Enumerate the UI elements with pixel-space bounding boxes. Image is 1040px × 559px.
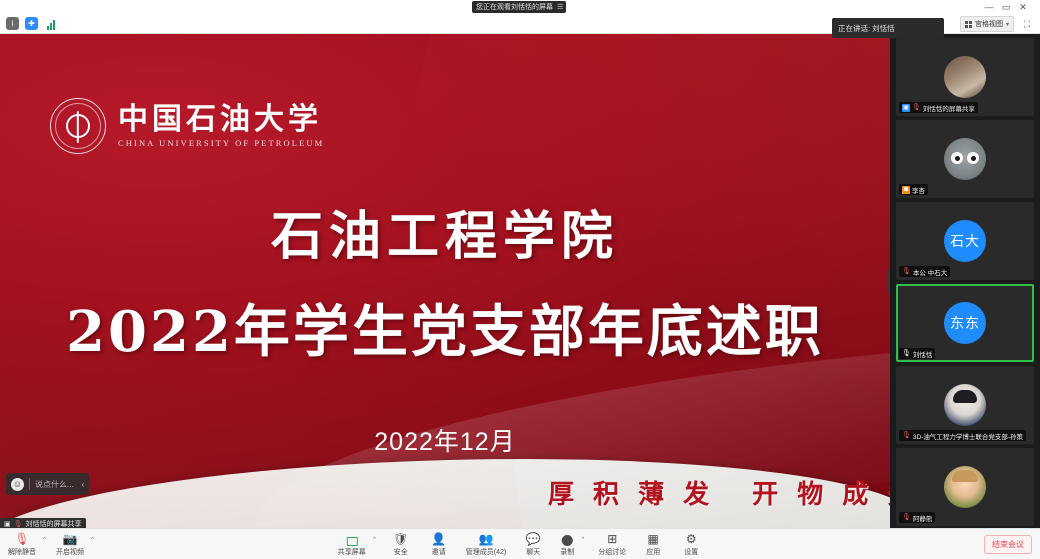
microphone-muted-icon: 🎙 (14, 531, 29, 546)
participant-label: ☗ 李杏 (899, 184, 928, 195)
logo-english-name: CHINA UNIVERSITY OF PETROLEUM (118, 138, 324, 148)
breakout-rooms-icon: ⊞ (607, 531, 617, 546)
host-icon: ☗ (902, 186, 910, 194)
fullscreen-icon[interactable]: ⛶ (1020, 17, 1034, 31)
divider (29, 478, 30, 490)
emoji-icon[interactable]: ☺ (11, 478, 24, 491)
mic-on-icon: 🎙 (902, 350, 911, 357)
meeting-status-icons: i ✚ (6, 17, 57, 30)
gear-icon: ⚙ (686, 531, 697, 546)
unmute-button-label: 解除静音 (8, 547, 36, 557)
end-meeting-button[interactable]: 结束会议 (984, 535, 1032, 554)
apps-button[interactable]: ▦ 应用 (642, 531, 664, 557)
chat-button[interactable]: 💬 聊天 (522, 531, 544, 557)
participant-name: 刘恬恬的屏幕共享 (923, 103, 975, 113)
mic-muted-icon: 🎙 (912, 104, 921, 111)
mic-muted-icon: 🎙 (902, 514, 911, 521)
avatar (944, 384, 986, 426)
control-bar-left-group: 🎙 解除静音 ^ 📷 开启视频 ^ (8, 531, 92, 557)
window-titlebar: 您正在观看刘恬恬的屏幕 ☰ — ▭ ✕ (0, 0, 1040, 14)
window-close-button[interactable]: ✕ (1016, 1, 1030, 13)
slide-heading-secondary: 2022年学生党支部年底述职 (0, 287, 890, 368)
slide-motto-right: 开 物 成 务 (752, 474, 890, 511)
control-bar-center-group: 共享屏幕 ^ 🛡 安全 👤 邀请 👥 管理成员(42) 💬 聊天 录制 (338, 531, 702, 557)
shield-icon[interactable]: ✚ (25, 17, 38, 30)
start-video-button[interactable]: 📷 开启视频 ^ (56, 531, 92, 557)
university-logo: 中国石油大学 CHINA UNIVERSITY OF PETROLEUM (50, 98, 324, 154)
chat-input-placeholder[interactable]: 说点什么... (35, 479, 74, 490)
view-mode-switch[interactable]: 宫格视图 ▾ (960, 16, 1014, 32)
collapse-chat-icon[interactable]: ‹ (79, 480, 85, 489)
participant-name: 李杏 (912, 185, 925, 195)
info-icon[interactable]: i (6, 17, 19, 30)
manage-participants-button-label: 管理成员(42) (466, 547, 506, 557)
floating-chat-composer[interactable]: ☺ 说点什么... ‹ (6, 473, 89, 495)
chevron-up-icon[interactable]: ^ (43, 537, 46, 543)
participant-name: 阿静熊 (913, 513, 933, 523)
participant-thumbnail-active-speaker[interactable]: 东东 🎙 刘恬恬 (896, 284, 1034, 362)
window-minimize-button[interactable]: — (982, 1, 996, 13)
active-speaker-toast: 正在讲话: 刘恬恬 (832, 18, 944, 38)
screen-share-attribution-tag: ▣ 🎙 刘恬恬的屏幕共享 (0, 518, 86, 528)
unmute-button[interactable]: 🎙 解除静音 ^ (8, 531, 44, 557)
participant-label: 🎙 刘恬恬 (899, 348, 935, 359)
university-seal-icon (50, 98, 106, 154)
slide-motto: 厚 积 薄 发 开 物 成 务 (548, 474, 890, 511)
participant-name: 本公 中石大 (913, 267, 947, 277)
participant-label: 🎙 3D-油气工程力学博士联合党支部-孙策 (899, 430, 1026, 441)
chevron-up-icon[interactable]: ^ (373, 537, 376, 543)
viewing-screen-banner-text: 您正在观看刘恬恬的屏幕 (476, 2, 553, 12)
chevron-up-icon[interactable]: ^ (91, 537, 94, 543)
shield-icon: 🛡 (393, 531, 408, 546)
chevron-up-icon[interactable]: ^ (581, 537, 584, 543)
participant-label: 🎙 阿静熊 (899, 512, 935, 523)
participant-name: 3D-油气工程力学博士联合党支部-孙策 (913, 431, 1023, 441)
chat-button-label: 聊天 (526, 547, 540, 557)
chat-bubble-icon: 💬 (526, 531, 541, 546)
participant-thumbnail[interactable]: 🎙 阿静熊 (896, 448, 1034, 526)
invite-person-icon: 👤 (431, 531, 446, 546)
security-button-label: 安全 (394, 547, 408, 557)
slide-date: 2022年12月 (0, 422, 890, 458)
avatar (944, 56, 986, 98)
settings-button-label: 设置 (684, 547, 698, 557)
participant-thumbnail[interactable]: ▣ 🎙 刘恬恬的屏幕共享 (896, 38, 1034, 116)
invite-button-label: 邀请 (432, 547, 446, 557)
banner-menu-icon[interactable]: ☰ (557, 3, 562, 11)
mic-muted-icon: 🎙 (902, 268, 911, 275)
grid-view-icon (965, 21, 972, 28)
avatar: 石大 (944, 220, 986, 262)
avatar: 东东 (944, 302, 986, 344)
record-button-label: 录制 (560, 547, 574, 557)
mic-muted-icon: 🎙 (14, 521, 23, 528)
avatar (944, 138, 986, 180)
shared-screen-stage[interactable]: 中国石油大学 CHINA UNIVERSITY OF PETROLEUM 石油工… (0, 34, 890, 528)
screen-share-icon: ▣ (902, 104, 910, 112)
participant-thumbnail[interactable]: ☗ 李杏 (896, 120, 1034, 198)
participant-thumbnail[interactable]: 🎙 3D-油气工程力学博士联合党支部-孙策 (896, 366, 1034, 444)
zoom-meeting-window: 您正在观看刘恬恬的屏幕 ☰ — ▭ ✕ i ✚ 宫格视图 ▾ ⛶ (0, 0, 1040, 559)
apps-grid-icon: ▦ (648, 531, 659, 546)
avatar (944, 466, 986, 508)
view-mode-label: 宫格视图 (975, 19, 1003, 29)
participants-icon: 👥 (479, 531, 494, 546)
slide-heading-primary: 石油工程学院 (0, 194, 890, 269)
apps-button-label: 应用 (646, 547, 660, 557)
breakout-rooms-button-label: 分组讨论 (598, 547, 626, 557)
viewing-screen-banner[interactable]: 您正在观看刘恬恬的屏幕 ☰ (472, 1, 566, 13)
breakout-rooms-button[interactable]: ⊞ 分组讨论 (598, 531, 626, 557)
security-button[interactable]: 🛡 安全 (390, 531, 412, 557)
share-screen-button-label: 共享屏幕 (338, 547, 366, 557)
invite-button[interactable]: 👤 邀请 (428, 531, 450, 557)
window-maximize-button[interactable]: ▭ (999, 1, 1013, 13)
mic-muted-icon: 🎙 (902, 432, 911, 439)
participant-label: 🎙 本公 中石大 (899, 266, 950, 277)
screen-share-owner-label: 刘恬恬的屏幕共享 (26, 519, 82, 528)
manage-participants-button[interactable]: 👥 管理成员(42) (466, 531, 506, 557)
settings-button[interactable]: ⚙ 设置 (680, 531, 702, 557)
record-icon (562, 531, 573, 546)
participant-sidebar[interactable]: ▣ 🎙 刘恬恬的屏幕共享 ☗ 李杏 石大 🎙 本公 中石大 东东 🎙 刘恬恬 (890, 34, 1040, 528)
record-button[interactable]: 录制 ^ (560, 531, 582, 557)
logo-chinese-name: 中国石油大学 (118, 104, 324, 136)
camera-off-icon: 📷 (63, 531, 78, 546)
participant-thumbnail[interactable]: 石大 🎙 本公 中石大 (896, 202, 1034, 280)
meeting-control-bar: 🎙 解除静音 ^ 📷 开启视频 ^ 共享屏幕 ^ 🛡 安全 👤 (0, 528, 1040, 559)
share-screen-button[interactable]: 共享屏幕 ^ (338, 531, 374, 557)
slide-motto-left: 厚 积 薄 发 (548, 474, 714, 511)
presentation-slide: 中国石油大学 CHINA UNIVERSITY OF PETROLEUM 石油工… (0, 34, 890, 528)
screen-icon: ▣ (4, 521, 11, 528)
screen-share-icon (346, 531, 357, 546)
chevron-down-icon[interactable]: ▾ (1006, 21, 1009, 28)
participant-name: 刘恬恬 (913, 349, 933, 359)
start-video-button-label: 开启视频 (56, 547, 84, 557)
participant-label: ▣ 🎙 刘恬恬的屏幕共享 (899, 102, 978, 113)
network-signal-icon[interactable] (44, 17, 57, 30)
